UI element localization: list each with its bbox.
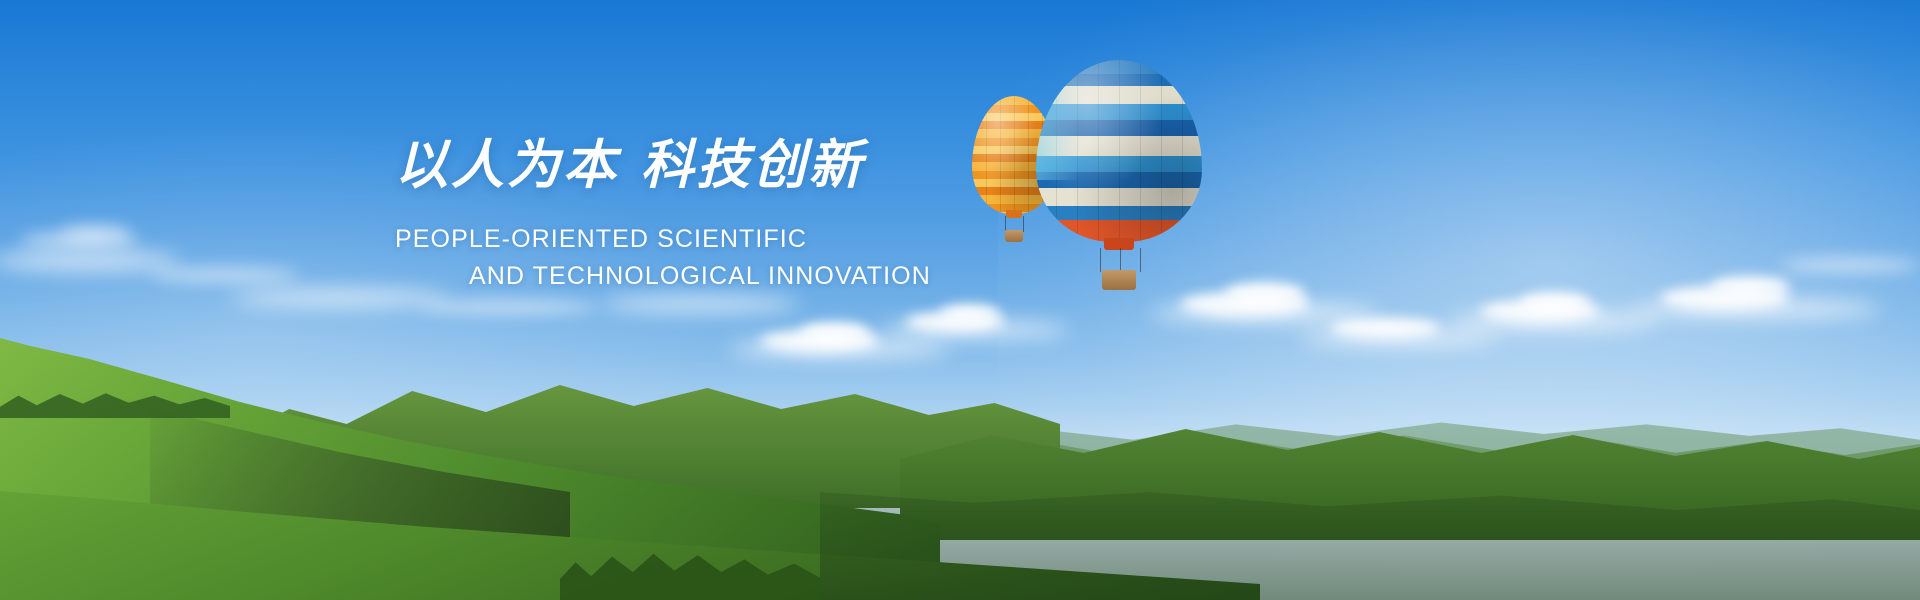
mountain-landscape: [0, 270, 1920, 600]
hero-banner: 以人为本 科技创新 PEOPLE-ORIENTED SCIENTIFIC AND…: [0, 0, 1920, 600]
banner-subtitle-line-1: PEOPLE-ORIENTED SCIENTIFIC: [395, 221, 1095, 257]
banner-subtitle: PEOPLE-ORIENTED SCIENTIFIC AND TECHNOLOG…: [395, 221, 1095, 294]
banner-headline: 以人为本 科技创新: [395, 136, 1095, 195]
balloon-blue-neck: [1104, 238, 1134, 250]
banner-subtitle-line-2: AND TECHNOLOGICAL INNOVATION: [395, 258, 1095, 294]
banner-copy: 以人为本 科技创新 PEOPLE-ORIENTED SCIENTIFIC AND…: [395, 136, 1095, 294]
